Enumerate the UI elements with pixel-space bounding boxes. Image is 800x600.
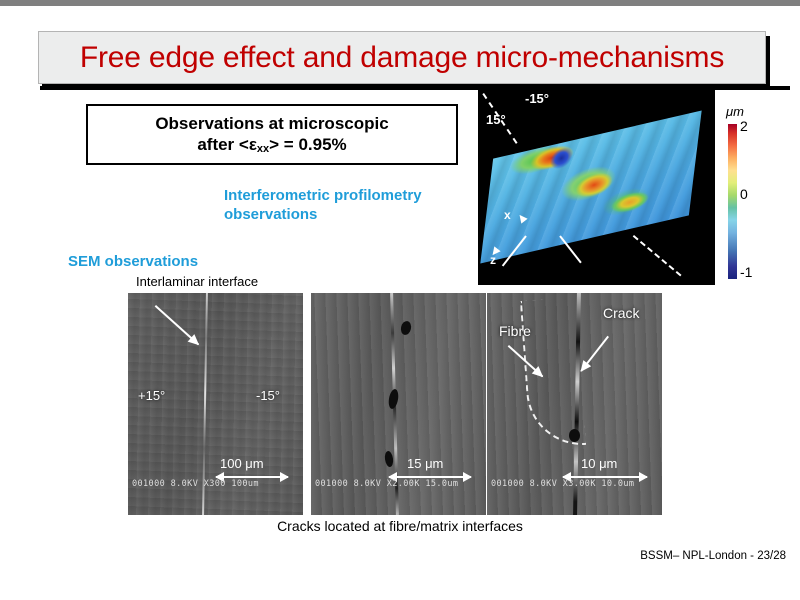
slide-canvas: Free edge effect and damage micro-mechan… — [0, 0, 800, 600]
colorbar-gradient — [728, 124, 737, 279]
profilometry-angle-top: -15° — [525, 91, 549, 106]
sem-label-minus15: -15° — [256, 388, 280, 403]
sem-label-fibre: Fibre — [499, 323, 531, 339]
sem-status-strip: 001000 8.0KV X3.00K 10.0um — [491, 479, 634, 489]
sem-scale-text: 100 μm — [220, 456, 264, 471]
sem-scale-text: 10 μm — [581, 456, 617, 471]
slide-title-box: Free edge effect and damage micro-mechan… — [38, 31, 766, 84]
sem-scale-text: 15 μm — [407, 456, 443, 471]
axis-label-z: z — [490, 253, 496, 267]
sem-scale-bar-icon — [216, 476, 288, 478]
sem-scale-bar-icon — [389, 476, 471, 478]
profilometry-surface — [480, 111, 701, 264]
observations-line-2: after <εxx> = 0.95% — [197, 134, 346, 157]
profilometry-image: -15° 15° x z — [478, 85, 715, 285]
heading-sem: SEM observations — [68, 253, 198, 272]
top-gray-bar — [0, 0, 800, 6]
strain-suffix: > = 0.95% — [269, 135, 347, 154]
observations-box: Observations at microscopic after <εxx> … — [86, 104, 458, 165]
heading-interferometry: Interferometric profilometry observation… — [224, 187, 474, 225]
axis-label-x: x — [504, 208, 511, 222]
sem-scale-bar-icon — [563, 476, 647, 478]
sem-image-panel-1: +15° -15° 100 μm 001000 8.0KV X300 100um — [128, 293, 303, 515]
sem-image-panel-3: Fibre Crack 10 μm 001000 8.0KV X3.00K 10… — [487, 293, 662, 515]
observations-line-1: Observations at microscopic — [155, 113, 388, 134]
sem-status-strip: 001000 8.0KV X300 100um — [132, 479, 259, 489]
figure-caption: Cracks located at fibre/matrix interface… — [0, 518, 800, 534]
sem-label-crack: Crack — [603, 305, 640, 321]
colorbar-unit-label: μm — [726, 104, 744, 119]
colorbar-tick-min: -1 — [740, 264, 752, 280]
profilometry-angle-left: 15° — [486, 112, 506, 127]
colorbar-tick-max: 2 — [740, 118, 748, 134]
sem-status-strip: 001000 8.0KV X2.00K 15.0um — [315, 479, 458, 489]
colorbar-tick-mid: 0 — [740, 186, 748, 202]
profilometry-colorbar: μm 2 0 -1 — [726, 104, 796, 284]
page-title: Free edge effect and damage micro-mechan… — [80, 41, 724, 75]
strain-prefix: after <ε — [197, 135, 257, 154]
slide-footer: BSSM– NPL-London - 23/28 — [640, 550, 786, 562]
dashed-guide-bottom — [633, 235, 682, 276]
label-interlaminar-interface: Interlaminar interface — [136, 274, 258, 289]
strain-subscript: xx — [257, 143, 269, 155]
sem-image-panel-2: 15 μm 001000 8.0KV X2.00K 15.0um — [311, 293, 486, 515]
sem-label-plus15: +15° — [138, 388, 165, 403]
